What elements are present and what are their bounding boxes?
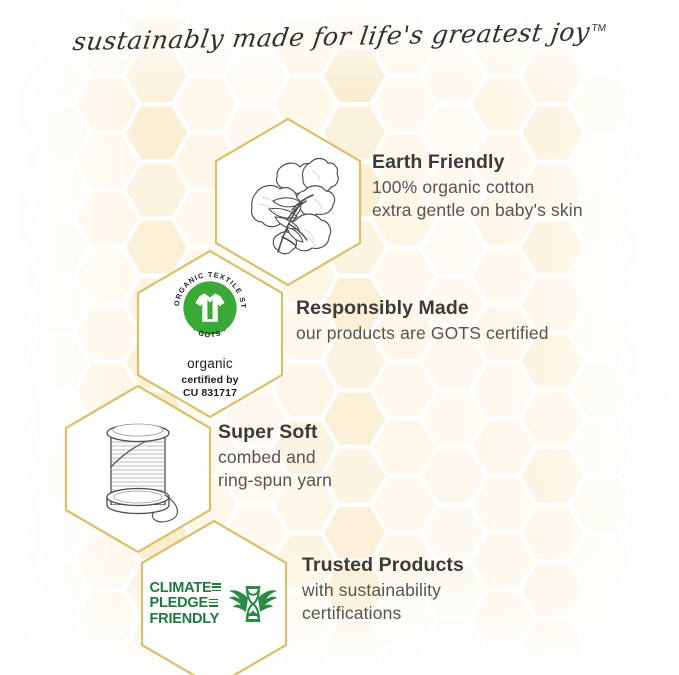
cpf-word-friendly: FRIENDLY	[150, 611, 220, 627]
feature-text: Responsibly Made our products are GOTS c…	[296, 298, 549, 345]
promo-infographic: sustainably made for life's greatest joy…	[0, 0, 679, 675]
feature-text: Trusted Products with sustainability cer…	[302, 555, 464, 624]
feature-line: 100% organic cotton	[372, 176, 583, 199]
cpf-bars-icon	[209, 599, 218, 609]
winged-hourglass-icon	[228, 583, 278, 625]
feature-text: Earth Friendly 100% organic cotton extra…	[372, 152, 583, 221]
feature-line: ring-spun yarn	[218, 469, 332, 492]
feature-line: certifications	[302, 602, 464, 625]
climate-pledge-friendly-icon: CLIMATE PLEDGE FRIENDLY	[138, 518, 290, 675]
feature-line: with sustainability	[302, 579, 464, 602]
feature-title: Earth Friendly	[372, 152, 583, 174]
feature-line: combed and	[218, 446, 332, 469]
feature-title: Super Soft	[218, 422, 332, 444]
feature-line: our products are GOTS certified	[296, 322, 549, 345]
feature-line: extra gentle on baby's skin	[372, 199, 583, 222]
feature-text: Super Soft combed and ring-spun yarn	[218, 422, 332, 491]
feature-title: Trusted Products	[302, 555, 464, 577]
cpf-word-climate: CLIMATE	[150, 580, 212, 596]
cpf-word-pledge: PLEDGE	[150, 595, 208, 611]
cpf-bars-icon	[212, 583, 221, 593]
feature-title: Responsibly Made	[296, 298, 549, 320]
gots-organic-label: organic	[187, 356, 233, 371]
